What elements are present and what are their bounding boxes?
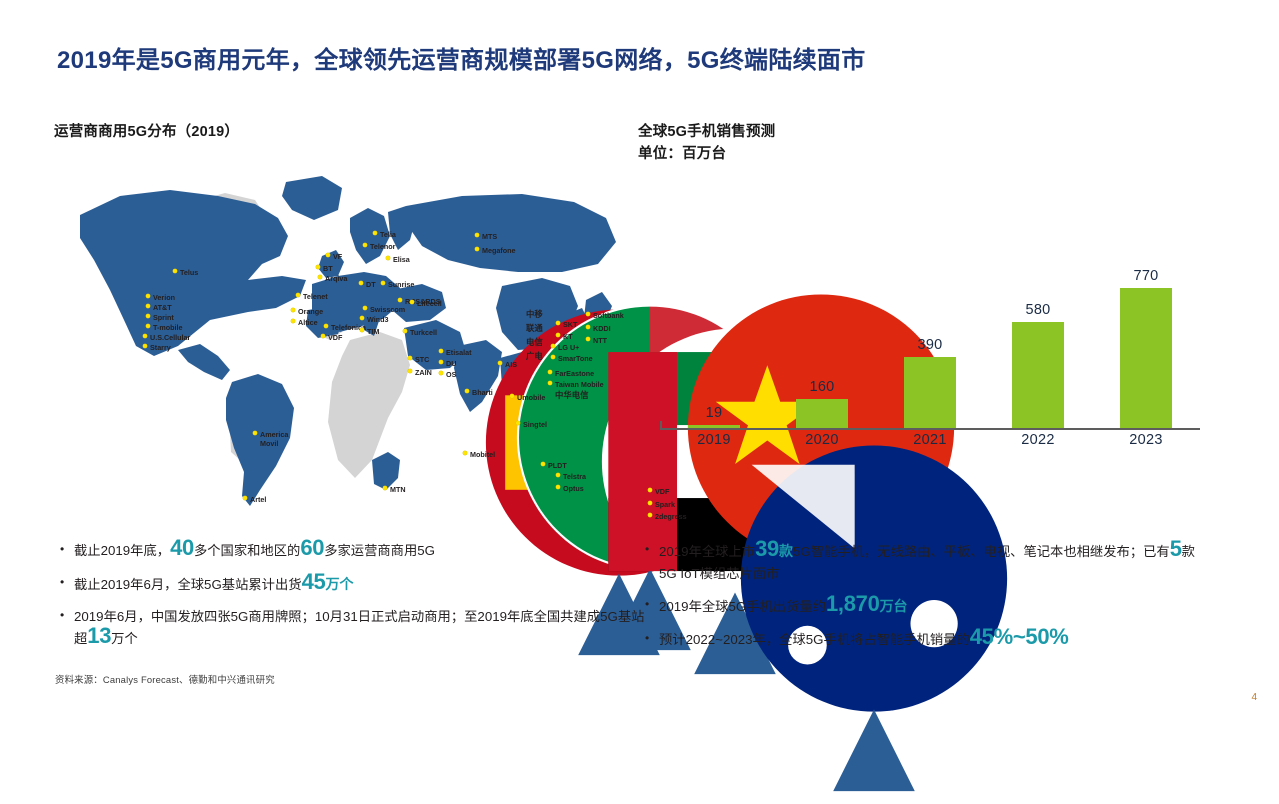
map-operator-label: Softbank [593,311,624,320]
chart-x-tick-labels: 20192020202120222023 [660,432,1200,448]
chart-bar [904,357,956,428]
map-operator-label: Telenor [370,242,395,251]
bullet-highlight: 款 [779,543,793,559]
chart-bar-value-label: 770 [1133,268,1158,284]
bullet-text: 2019年全球上市39款5G智能手机，无线路由、平板、电视、笔记本也相继发布；已… [659,540,1205,584]
map-operator-dot [408,356,412,360]
map-operator-dot [143,344,147,348]
map-operator-label: STC [415,355,429,364]
map-operator-dot [463,451,467,455]
bullet-text: 截止2019年底，40多个国家和地区的60多家运营商商用5G [74,540,645,562]
map-operator-label: VDF [655,487,669,496]
chart-bar [1012,322,1064,428]
map-operator-dot [146,294,150,298]
map-operator-label: 2degress [655,512,687,521]
map-operator-label: Artel [250,495,266,504]
map-operator-label: Telia [380,230,396,239]
map-operator-dot [475,233,479,237]
map-operator-label: Singtel [523,420,547,429]
map-operator-label: Orange [298,307,323,316]
map-operator-dot [146,324,150,328]
map-operator-label: Starry [150,343,171,352]
map-operator-dot [439,360,443,364]
map-operator-label: Optus [563,484,584,493]
bullet-highlight: 万个 [325,576,353,592]
bullet-list-right: •2019年全球上市39款5G智能手机，无线路由、平板、电视、笔记本也相继发布；… [645,540,1205,661]
map-operator-label: SKT [563,320,577,329]
chart-bar-column: 19 [660,250,768,428]
bullet-highlight: 1,870 [826,591,880,616]
bullet-marker: • [645,540,659,584]
sales-forecast-bar-chart: 19160390580770 20192020202120222023 [660,250,1200,430]
chart-x-tick: 2019 [660,432,768,448]
bullet-marker: • [645,595,659,618]
bullet-highlight: 13 [87,623,111,648]
map-operator-label: Arqiva [325,274,347,283]
map-operator-dot [360,316,364,320]
map-operator-label: Taiwan Mobile [555,380,604,389]
bullet-text: 预计2022~2023年，全球5G手机将占智能手机销量的45%~50% [659,629,1205,651]
map-operator-dot [548,370,552,374]
map-operator-label: Megafone [482,246,516,255]
chart-bar-column: 580 [984,250,1092,428]
map-operator-label: Telstra [563,472,586,481]
map-operator-dot [541,462,545,466]
map-operator-dot [143,334,147,338]
map-operator-label: Wind3 [367,315,389,324]
map-operator-label: Etisalat [446,348,472,357]
bullet-plain: 多个国家和地区的 [194,543,300,558]
map-operator-dot [410,300,414,304]
map-operator-label: AIS [505,360,517,369]
map-operator-dot [403,329,407,333]
map-operator-dot [324,324,328,328]
map-operator-label: Elisa [393,255,410,264]
map-operator-dot [321,334,325,338]
chart-bar-column: 770 [1092,250,1200,428]
map-operator-label: MTN [390,485,406,494]
chart-x-tick: 2023 [1092,432,1200,448]
map-operator-label: 中华电信 [555,391,589,400]
map-operator-dot [648,488,652,492]
map-operator-label: MTS [482,232,497,241]
map-operator-label: Turkcell [410,328,437,337]
bullet-list-left: •截止2019年底，40多个国家和地区的60多家运营商商用5G•截止2019年6… [60,540,645,660]
map-section-heading: 运营商商用5G分布（2019） [54,120,239,141]
map-operator-dot [386,256,390,260]
map-operator-label: T-mobile [153,323,183,332]
slide-root: 2019年是5G商用元年，全球领先运营商规模部署5G网络，5G终端陆续面市 运营… [0,0,1279,719]
map-operator-dot [383,486,387,490]
map-operator-label: 联通 [526,324,543,333]
map-operator-label: Umobile [517,393,545,402]
map-operator-dot [510,394,514,398]
bullet-highlight: 60 [300,535,324,560]
chart-x-axis-line [660,428,1200,430]
chart-y-axis-cap [660,421,662,430]
map-operator-dot [475,247,479,251]
map-operator-dot [648,513,652,517]
map-operator-dot [556,321,560,325]
world-map: TelusVerionAT&TSprintT-mobileU.S.Cellula… [50,160,630,525]
map-operator-label: Lifecell [417,299,442,308]
bullet-item: •2019年全球上市39款5G智能手机，无线路由、平板、电视、笔记本也相继发布；… [645,540,1205,584]
chart-bar-column: 390 [876,250,984,428]
map-operator-dot [173,269,177,273]
map-operator-dot [586,312,590,316]
bullet-marker: • [645,629,659,651]
chart-unit-label: 单位：百万台 [638,142,726,163]
map-operator-dot [551,344,555,348]
bullet-highlight: 万台 [880,598,908,614]
map-operator-dot [516,421,520,425]
bullet-text: 截止2019年6月，全球5G基站累计出货45万个 [74,573,645,596]
map-operator-dot [556,333,560,337]
map-operator-dot [465,389,469,393]
map-operator-dot [556,473,560,477]
map-operator-label: Bharti [472,388,493,397]
map-operator-label: Altice [298,318,318,327]
map-operator-dot [398,298,402,302]
map-operator-dot [556,485,560,489]
map-operator-label: AT&T [153,303,172,312]
chart-x-tick: 2021 [876,432,984,448]
map-operator-dot [359,281,363,285]
bullet-marker: • [60,606,74,649]
bullet-plain: 2019年6月，中国发放四张5G商用牌照；10月31日正式启动商用；至2019年… [74,609,644,646]
map-operator-dot [243,496,247,500]
chart-section-heading: 全球5G手机销售预测 [638,120,775,141]
map-operator-label: Spark [655,500,675,509]
bullet-text: 2019年全球5G手机出货量约1,870万台 [659,595,1205,618]
map-operator-label: VDF [328,333,342,342]
map-operator-dot [439,371,443,375]
bullet-text: 2019年6月，中国发放四张5G商用牌照；10月31日正式启动商用；至2019年… [74,606,645,649]
map-operator-label: TIM [367,327,379,336]
map-operator-label: PLDT [548,461,567,470]
bullet-plain: 截止2019年底， [74,543,170,558]
map-operator-label: KT [563,332,573,341]
map-operator-label: Telus [180,268,198,277]
bullet-item: •截止2019年6月，全球5G基站累计出货45万个 [60,573,645,596]
chart-bar [1120,288,1172,429]
map-operator-dot [291,319,295,323]
map-operator-dot [408,369,412,373]
map-operator-label: Sunrise [388,280,414,289]
map-operator-dot [586,325,590,329]
map-operator-label: AmericaMovil [260,430,288,448]
bullet-item: •截止2019年底，40多个国家和地区的60多家运营商商用5G [60,540,645,562]
map-operator-label: VF [333,252,342,261]
chart-bar-value-label: 390 [917,337,942,353]
map-operator-dot [551,355,555,359]
bullet-highlight: 39 [755,536,779,561]
map-operator-dot [146,314,150,318]
map-operator-label: BT [323,264,333,273]
bullet-marker: • [60,540,74,562]
map-operator-label: 中移 [526,310,543,319]
page-number: 4 [1251,692,1257,703]
map-operator-dot [586,337,590,341]
map-operator-dot [326,253,330,257]
map-operator-label: DU [446,359,456,368]
map-operator-label: LG U+ [558,343,579,352]
source-note: 资料来源：Canalys Forecast、德勤和中兴通讯研究 [55,672,275,686]
bullet-plain: 2019年全球5G手机出货量约 [659,599,826,614]
map-operator-label: Verion [153,293,175,302]
bullet-highlight: 40 [170,535,194,560]
map-operator-dot [318,275,322,279]
map-operator-dot [253,431,257,435]
map-operator-label: 电信 [526,338,543,347]
bullet-plain: 多家运营商商用5G [324,543,435,558]
map-operator-dot [296,293,300,297]
map-operator-dot [291,308,295,312]
bullet-plain: 2019年全球上市 [659,544,755,559]
map-operator-dot [373,231,377,235]
map-operator-label: 广电 [526,352,543,361]
chart-bar-column: 160 [768,250,876,428]
map-operator-dot [498,361,502,365]
chart-bar-value-label: 19 [706,405,723,421]
bullet-plain: 预计2022~2023年，全球5G手机将占智能手机销量的 [659,632,970,647]
page-title: 2019年是5G商用元年，全球领先运营商规模部署5G网络，5G终端陆续面市 [57,40,866,75]
chart-bar-value-label: 580 [1025,302,1050,318]
chart-bar [796,399,848,428]
map-operator-label: DT [366,280,376,289]
map-operator-dot [360,328,364,332]
map-operator-dot [439,349,443,353]
map-operator-label: Swisscom [370,305,405,314]
bullet-plain: 万个 [111,631,138,646]
map-operator-label: Mobitel [470,450,495,459]
bullet-highlight: 45 [302,569,326,594]
map-operator-dot [146,304,150,308]
map-operator-dot [648,501,652,505]
map-operator-label: Telenet [303,292,328,301]
bullet-item: •2019年6月，中国发放四张5G商用牌照；10月31日正式启动商用；至2019… [60,606,645,649]
map-operator-label: KDDI [593,324,611,333]
map-operator-dot [381,281,385,285]
map-operator-label: Sprint [153,313,174,322]
bullet-item: •2019年全球5G手机出货量约1,870万台 [645,595,1205,618]
map-operator-dot [363,306,367,310]
bullet-highlight: 45%~50% [970,624,1069,649]
map-operator-label: SmarTone [558,354,593,363]
map-operator-label: ZAIN [415,368,432,377]
map-operator-label: U.S.Cellular [150,333,190,342]
chart-bar-group: 19160390580770 [660,250,1200,428]
chart-x-tick: 2020 [768,432,876,448]
bullet-highlight: 5 [1170,536,1182,561]
chart-bar-value-label: 160 [809,379,834,395]
bullet-plain: 5G智能手机，无线路由、平板、电视、笔记本也相继发布；已有 [793,544,1170,559]
bullet-plain: 截止2019年6月，全球5G基站累计出货 [74,577,302,592]
bullet-marker: • [60,573,74,596]
map-operator-dot [548,381,552,385]
chart-x-tick: 2022 [984,432,1092,448]
map-operator-label: NTT [593,336,607,345]
map-operator-dot [316,265,320,269]
map-operator-dot [363,243,367,247]
map-operator-label: FarEastone [555,369,594,378]
map-operator-label: OS [446,370,456,379]
bullet-item: •预计2022~2023年，全球5G手机将占智能手机销量的45%~50% [645,629,1205,651]
